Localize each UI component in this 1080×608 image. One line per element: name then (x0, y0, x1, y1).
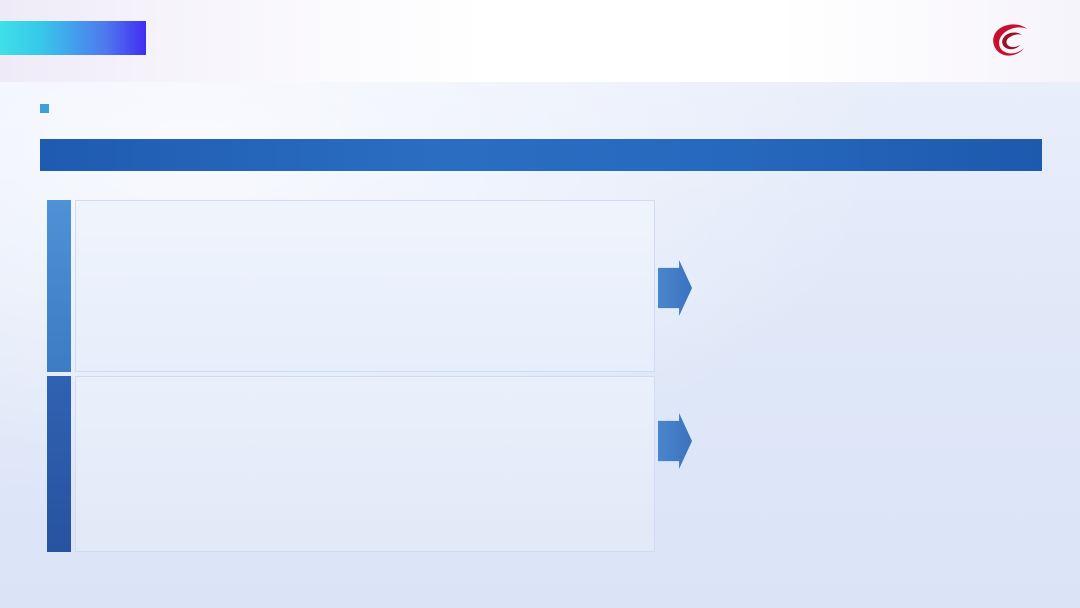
dcits-logo (991, 20, 1038, 62)
section-bullet (40, 104, 56, 113)
dcits-swirl-icon (991, 22, 1031, 60)
fullstack-platform-box (75, 376, 655, 552)
bullet-square-icon (40, 104, 49, 113)
vbar-core-system (47, 200, 71, 372)
title-accent-bar (0, 21, 146, 55)
page-header (0, 0, 1080, 82)
left-architecture-panel (47, 200, 655, 552)
vbar-fullstack-platform (47, 376, 71, 552)
core-system-box (75, 200, 655, 372)
highlight-banner (40, 139, 1042, 171)
